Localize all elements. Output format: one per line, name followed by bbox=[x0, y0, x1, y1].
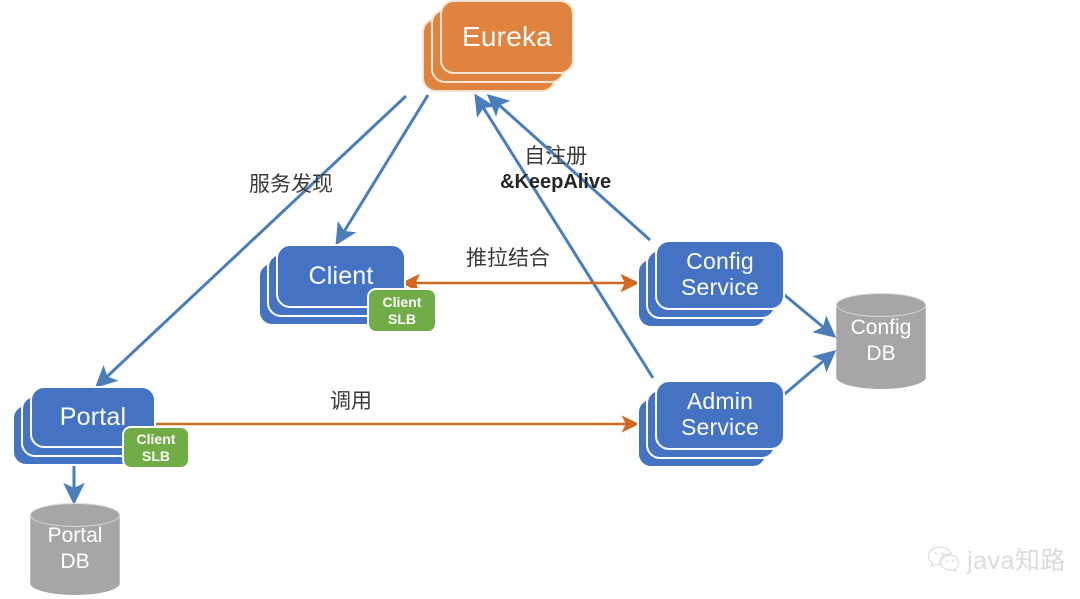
badge-portal-slb[interactable]: Client SLB bbox=[122, 426, 190, 469]
wechat-icon bbox=[927, 545, 961, 573]
node-admin-service-line1: Admin bbox=[687, 389, 753, 415]
node-portal-db-line2: DB bbox=[60, 549, 89, 575]
node-config-service-line1: Config bbox=[686, 249, 754, 275]
node-eureka-label: Eureka bbox=[462, 21, 552, 52]
self-register-line2: &KeepAlive bbox=[500, 170, 611, 194]
service-discovery-text: 服务发现 bbox=[249, 173, 333, 196]
node-portal-db[interactable]: Portal DB bbox=[30, 503, 120, 595]
node-config-service[interactable]: Config Service bbox=[637, 258, 767, 328]
node-portal[interactable]: Portal bbox=[12, 404, 138, 466]
architecture-diagram-canvas: Eureka Client Client SLB Portal Client S… bbox=[0, 0, 1080, 599]
edge-admin-service-to-eureka bbox=[476, 96, 653, 378]
portal-slb-line2: SLB bbox=[142, 448, 170, 464]
node-eureka[interactable]: Eureka bbox=[422, 18, 556, 92]
eureka-card-front: Eureka bbox=[440, 0, 574, 74]
node-config-db-line1: Config bbox=[851, 315, 912, 341]
watermark: java知路 bbox=[927, 541, 1066, 577]
edge-label-invoke: 调用 bbox=[330, 389, 372, 415]
edge-label-self-register: 自注册 &KeepAlive bbox=[500, 144, 611, 194]
push-pull-text: 推拉结合 bbox=[466, 247, 550, 270]
badge-client-slb[interactable]: Client SLB bbox=[367, 288, 437, 333]
edge-label-push-pull: 推拉结合 bbox=[466, 246, 550, 272]
node-config-db[interactable]: Config DB bbox=[836, 293, 926, 389]
edge-admin-service-to-config-db bbox=[780, 352, 834, 398]
edge-eureka-to-portal bbox=[97, 96, 406, 386]
invoke-text: 调用 bbox=[330, 390, 372, 413]
config-service-card-front: Config Service bbox=[655, 240, 785, 310]
client-slb-line1: Client bbox=[383, 294, 422, 310]
node-admin-service-line2: Service bbox=[681, 415, 759, 441]
admin-service-card-front: Admin Service bbox=[655, 380, 785, 450]
edge-label-service-discovery: 服务发现 bbox=[249, 172, 333, 198]
node-config-service-line2: Service bbox=[681, 275, 759, 301]
watermark-text: java知路 bbox=[967, 541, 1066, 577]
node-portal-label: Portal bbox=[60, 403, 127, 431]
self-register-line1: 自注册 bbox=[500, 144, 611, 170]
portal-slb-line1: Client bbox=[137, 431, 176, 447]
node-config-db-line2: DB bbox=[866, 341, 895, 367]
node-client-label: Client bbox=[308, 262, 373, 290]
client-slb-line2: SLB bbox=[388, 311, 416, 327]
node-admin-service[interactable]: Admin Service bbox=[637, 398, 767, 468]
node-portal-db-line1: Portal bbox=[48, 523, 103, 549]
